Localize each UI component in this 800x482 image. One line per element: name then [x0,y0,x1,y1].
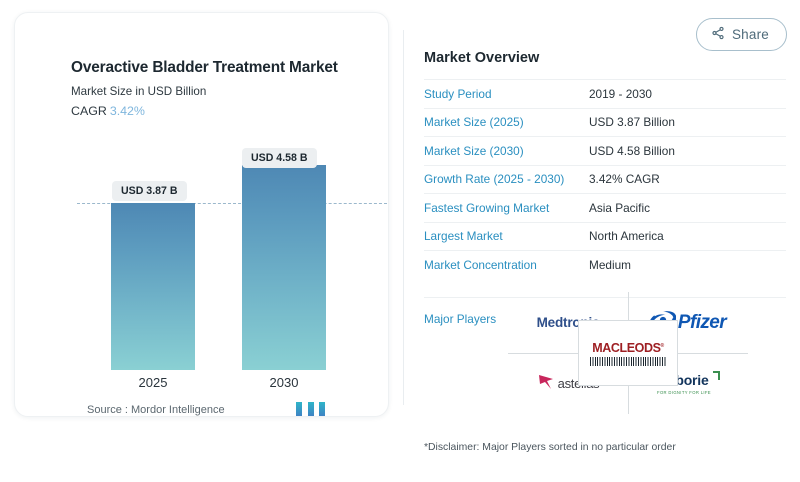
cagr-label: CAGR [71,104,107,118]
row-value: North America [589,229,664,243]
panel-divider [403,30,404,405]
row-value: USD 3.87 Billion [589,115,675,129]
pfizer-wordmark: Pfizer [678,312,726,334]
row-key: Market Size (2025) [424,115,589,129]
chart-source: Source : Mordor Intelligence [87,404,225,416]
table-row: Market Size (2025) USD 3.87 Billion [424,108,786,137]
chart-subtitle: Market Size in USD Billion [71,85,206,98]
overview-title: Market Overview [424,50,786,66]
row-key: Fastest Growing Market [424,201,589,215]
share-icon [711,26,725,43]
chart-cagr: CAGR3.42% [71,104,145,118]
share-button[interactable]: Share [696,18,787,51]
row-value: Asia Pacific [589,201,650,215]
row-key: Growth Rate (2025 - 2030) [424,172,589,186]
row-key: Market Size (2030) [424,144,589,158]
share-label: Share [732,27,769,42]
macleods-wordmark: MACLEODS® [592,341,664,355]
chart-title: Overactive Bladder Treatment Market [71,59,338,77]
macleods-name: MACLEODS [592,341,660,355]
market-snapshot-page: Share Overactive Bladder Treatment Marke… [0,0,800,482]
row-value: USD 4.58 Billion [589,144,675,158]
bar-2025 [111,203,195,370]
table-row: Market Size (2030) USD 4.58 Billion [424,136,786,165]
market-overview-panel: Market Overview Study Period 2019 - 2030… [424,50,786,326]
macleods-registered-icon: ® [661,342,664,348]
laborie-tagline: FOR DIGNITY FOR LIFE [657,390,711,395]
row-key: Study Period [424,87,589,101]
row-value: Medium [589,258,631,272]
row-value: 2019 - 2030 [589,87,652,101]
bar-value-label-2030: USD 4.58 B [242,148,317,168]
table-row: Market Concentration Medium [424,250,786,279]
x-axis-label-2030: 2030 [242,375,326,390]
bar-value-label-2025: USD 3.87 B [112,181,187,201]
row-value: 3.42% CAGR [589,172,660,186]
macleods-barcode-icon [590,357,666,366]
major-players-grid: Medtronic Pfizer [508,292,748,414]
table-row: Study Period 2019 - 2030 [424,79,786,108]
laborie-corner-icon [713,371,720,380]
bar-2030 [242,165,326,370]
cagr-value: 3.42% [110,104,145,118]
player-cell-macleods: MACLEODS® [578,320,678,386]
chart-card: Overactive Bladder Treatment Market Mark… [14,12,389,417]
table-row: Growth Rate (2025 - 2030) 3.42% CAGR [424,165,786,194]
disclaimer-text: *Disclaimer: Major Players sorted in no … [424,442,676,453]
table-row: Fastest Growing Market Asia Pacific [424,193,786,222]
row-key: Market Concentration [424,258,589,272]
mordor-intelligence-logo [295,401,329,417]
astellas-star-icon [537,371,557,396]
row-key: Largest Market [424,229,589,243]
table-row: Largest Market North America [424,222,786,251]
x-axis-label-2025: 2025 [111,375,195,390]
